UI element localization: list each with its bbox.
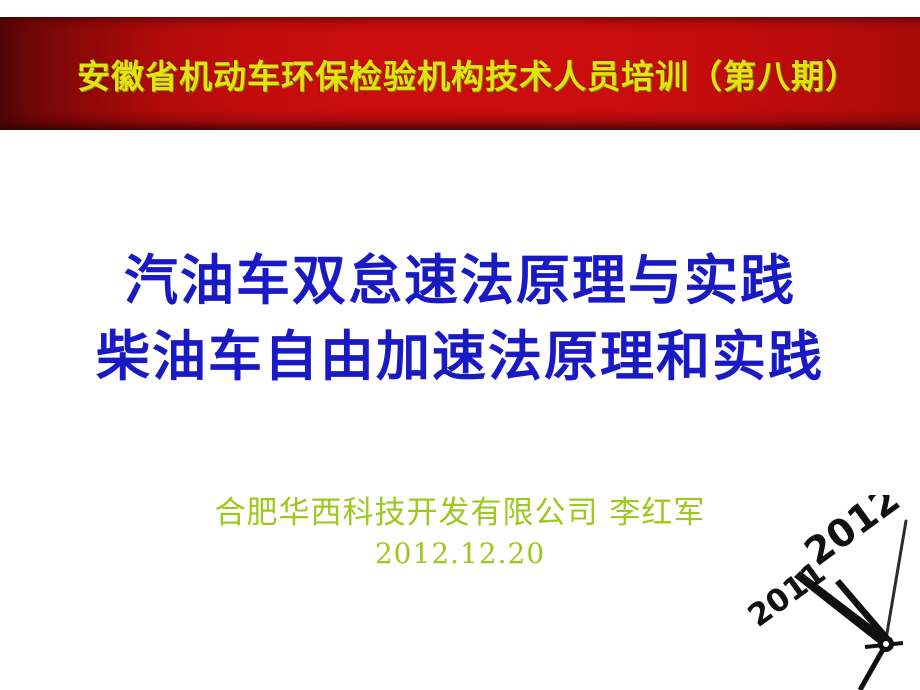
slide-subtitle-block: 合肥华西科技开发有限公司 李红军 2012.12.20: [0, 492, 920, 574]
subtitle-date: 2012.12.20: [0, 534, 920, 574]
header-title: 安徽省机动车环保检验机构技术人员培训（第八期）: [0, 17, 920, 130]
clock-pivot-center: [883, 641, 889, 647]
slide-title-line-2: 柴油车自由加速法原理和实践: [0, 319, 920, 395]
slide-title-line-1: 汽油车双怠速法原理与实践: [0, 243, 920, 319]
clock-hour-hand: [794, 571, 889, 647]
presentation-slide: 安徽省机动车环保检验机构技术人员培训（第八期） 汽油车双怠速法原理与实践 柴油车…: [0, 0, 920, 690]
clock-pivot: [878, 636, 894, 652]
slide-title-block: 汽油车双怠速法原理与实践 柴油车自由加速法原理和实践: [0, 243, 920, 395]
subtitle-company-and-author: 合肥华西科技开发有限公司 李红军: [0, 492, 920, 534]
clock-second-hand: [860, 637, 903, 690]
